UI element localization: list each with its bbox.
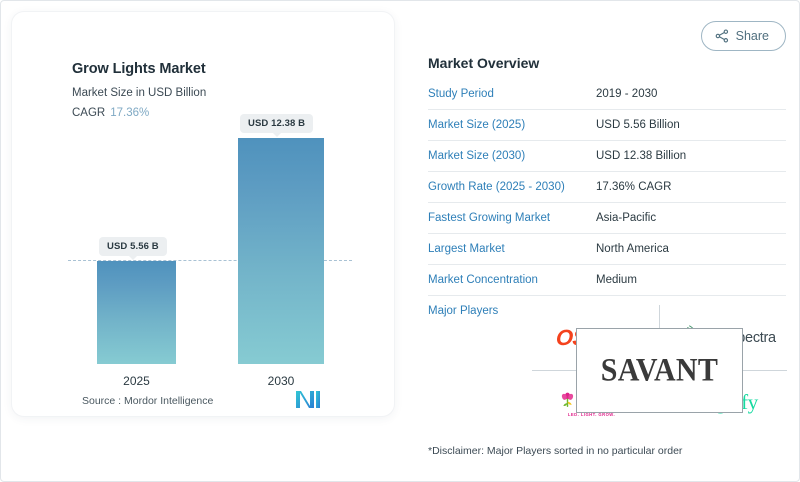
bar-2025[interactable] [97, 261, 176, 364]
row-value: 2019 - 2030 [596, 79, 786, 110]
row-key: Growth Rate (2025 - 2030) [428, 172, 596, 203]
row-key: Market Size (2030) [428, 141, 596, 172]
savant-logo-text: SAVANT [601, 352, 718, 389]
chart-source: Source : Mordor Intelligence [82, 395, 213, 407]
overview-table: Study Period 2019 - 2030 Market Size (20… [428, 79, 786, 326]
table-row: Market Size (2025) USD 5.56 Billion [428, 110, 786, 141]
table-row: Growth Rate (2025 - 2030) 17.36% CAGR [428, 172, 786, 203]
table-row: Study Period 2019 - 2030 [428, 79, 786, 110]
disclaimer-text: *Disclaimer: Major Players sorted in no … [428, 445, 682, 457]
share-button[interactable]: Share [701, 21, 786, 51]
overview-title: Market Overview [428, 55, 539, 71]
row-key: Market Concentration [428, 265, 596, 296]
row-value: Medium [596, 265, 786, 296]
table-row: Market Size (2030) USD 12.38 Billion [428, 141, 786, 172]
oreon-tulip-icon [559, 389, 576, 409]
row-key: Largest Market [428, 234, 596, 265]
bar-label-2025: USD 5.56 B [99, 237, 167, 256]
row-key: Fastest Growing Market [428, 203, 596, 234]
share-button-label: Share [736, 29, 769, 43]
share-icon [715, 29, 729, 43]
bar-label-2030: USD 12.38 B [240, 114, 313, 133]
chart-card: Grow Lights Market Market Size in USD Bi… [12, 12, 394, 416]
table-row: Fastest Growing Market Asia-Pacific [428, 203, 786, 234]
market-overview-panel: Share Market Overview Study Period 2019 … [417, 13, 789, 471]
bar-2030[interactable] [238, 138, 324, 364]
row-value: Asia-Pacific [596, 203, 786, 234]
table-row: Largest Market North America [428, 234, 786, 265]
table-row: Market Concentration Medium [428, 265, 786, 296]
row-value: USD 12.38 Billion [596, 141, 786, 172]
row-key: Market Size (2025) [428, 110, 596, 141]
row-value: North America [596, 234, 786, 265]
report-infographic: Grow Lights Market Market Size in USD Bi… [0, 0, 800, 482]
bar-chart-plot: USD 5.56 B USD 12.38 B 2025 2030 [12, 12, 394, 416]
row-value: USD 5.56 Billion [596, 110, 786, 141]
x-tick-2030: 2030 [238, 374, 324, 388]
major-players-grid: OSRAM heliospectra [532, 305, 787, 433]
row-value: 17.36% CAGR [596, 172, 786, 203]
player-logo-savant: SAVANT [576, 328, 743, 413]
row-key: Study Period [428, 79, 596, 110]
mordor-intelligence-logo-icon [295, 389, 321, 409]
x-tick-2025: 2025 [97, 374, 176, 388]
